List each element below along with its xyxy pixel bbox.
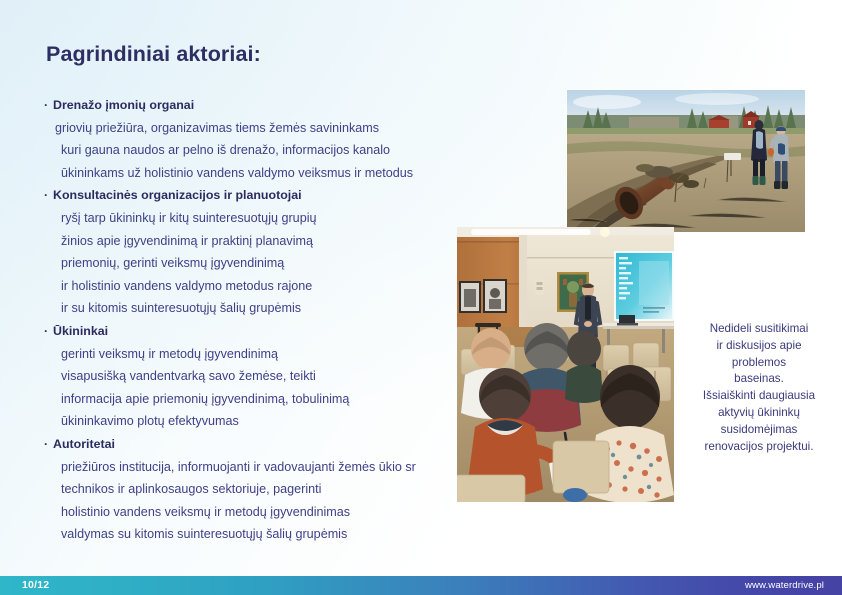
website-link[interactable]: www.waterdrive.pl [745,580,824,591]
bullet-group-drenazo-imoniu-organai: ·Drenažo įmonių organai griovių priežiūr… [44,94,514,184]
bullet-heading: ·Konsultacinės organizacijos ir planuoto… [44,184,514,207]
bullet-heading: ·Ūkininkai [44,320,514,343]
caption-line: aktyvių ūkininkų [686,405,832,422]
bullet-group-ukininkai: ·Ūkininkai gerinti veiksmų ir metodų įgy… [44,320,514,433]
caption-line: Išsiaiškinti daugiausia [686,388,832,405]
page-title: Pagrindiniai aktoriai: [46,42,261,67]
bullet-line: ūkininkams už holistinio vandens valdymo… [44,162,514,185]
bullet-line: technikos ir aplinkosaugos sektoriuje, p… [44,478,514,501]
bullet-line: ir su kitomis suinteresuotųjų šalių grup… [44,297,514,320]
bullet-line: visapusišką vandentvarką savo žemėse, te… [44,365,514,388]
bullet-marker: · [44,433,53,456]
bullet-marker: · [44,94,53,117]
bullet-line: priemonių, gerinti veiksmų įgyvendinimą [44,252,514,275]
photo-caption: Nedideli susitikimai ir diskusijos apie … [686,321,832,455]
content-list: ·Drenažo įmonių organai griovių priežiūr… [44,94,514,546]
photo-seminar-room [457,227,674,502]
caption-line: renovacijos projektui. [686,439,832,456]
bullet-marker: · [44,320,53,343]
bullet-line: priežiūros institucija, informuojanti ir… [44,456,514,479]
photo-seminar-room-graphic [457,227,674,502]
photo-drainage-ditch [567,90,805,232]
bullet-line: gerinti veiksmų ir metodų įgyvendinimą [44,343,514,366]
bullet-group-autoritetai: ·Autoritetai priežiūros institucija, inf… [44,433,514,546]
caption-line: problemos [686,355,832,372]
bullet-line: kuri gauna naudos ar pelno iš drenažo, i… [44,139,514,162]
bullet-heading: ·Autoritetai [44,433,514,456]
bullet-group-konsultacines-organizacijos: ·Konsultacinės organizacijos ir planuoto… [44,184,514,320]
bullet-line: ir holistinio vandens valdymo metodus ra… [44,275,514,298]
bullet-line: valdymas su kitomis suinteresuotųjų šali… [44,523,514,546]
bullet-heading-label: Autoritetai [53,437,115,451]
caption-line: baseinas. [686,371,832,388]
caption-line: susidomėjimas [686,422,832,439]
bullet-heading-label: Konsultacinės organizacijos ir planuotoj… [53,188,302,202]
slide: Pagrindiniai aktoriai: ·Drenažo įmonių o… [0,0,842,595]
page-number: 10/12 [22,579,49,591]
bullet-line: informacija apie priemonių įgyvendinimą,… [44,388,514,411]
bullet-line: holistinio vandens veiksmų ir metodų įgy… [44,501,514,524]
bullet-heading: ·Drenažo įmonių organai [44,94,514,117]
caption-line: ir diskusijos apie [686,338,832,355]
bullet-line: žinios apie įgyvendinimą ir praktinį pla… [44,230,514,253]
footer-bar: 10/12 www.waterdrive.pl [0,576,842,595]
photo-drainage-ditch-graphic [567,90,805,232]
bullet-heading-label: Ūkininkai [53,324,108,338]
caption-line: Nedideli susitikimai [686,321,832,338]
bullet-marker: · [44,184,53,207]
bullet-line: ryšį tarp ūkininkų ir kitų suinteresuotų… [44,207,514,230]
bullet-heading-label: Drenažo įmonių organai [53,98,194,112]
bullet-line: ūkininkavimo plotų efektyvumas [44,410,514,433]
bullet-line: griovių priežiūra, organizavimas tiems ž… [44,117,514,140]
